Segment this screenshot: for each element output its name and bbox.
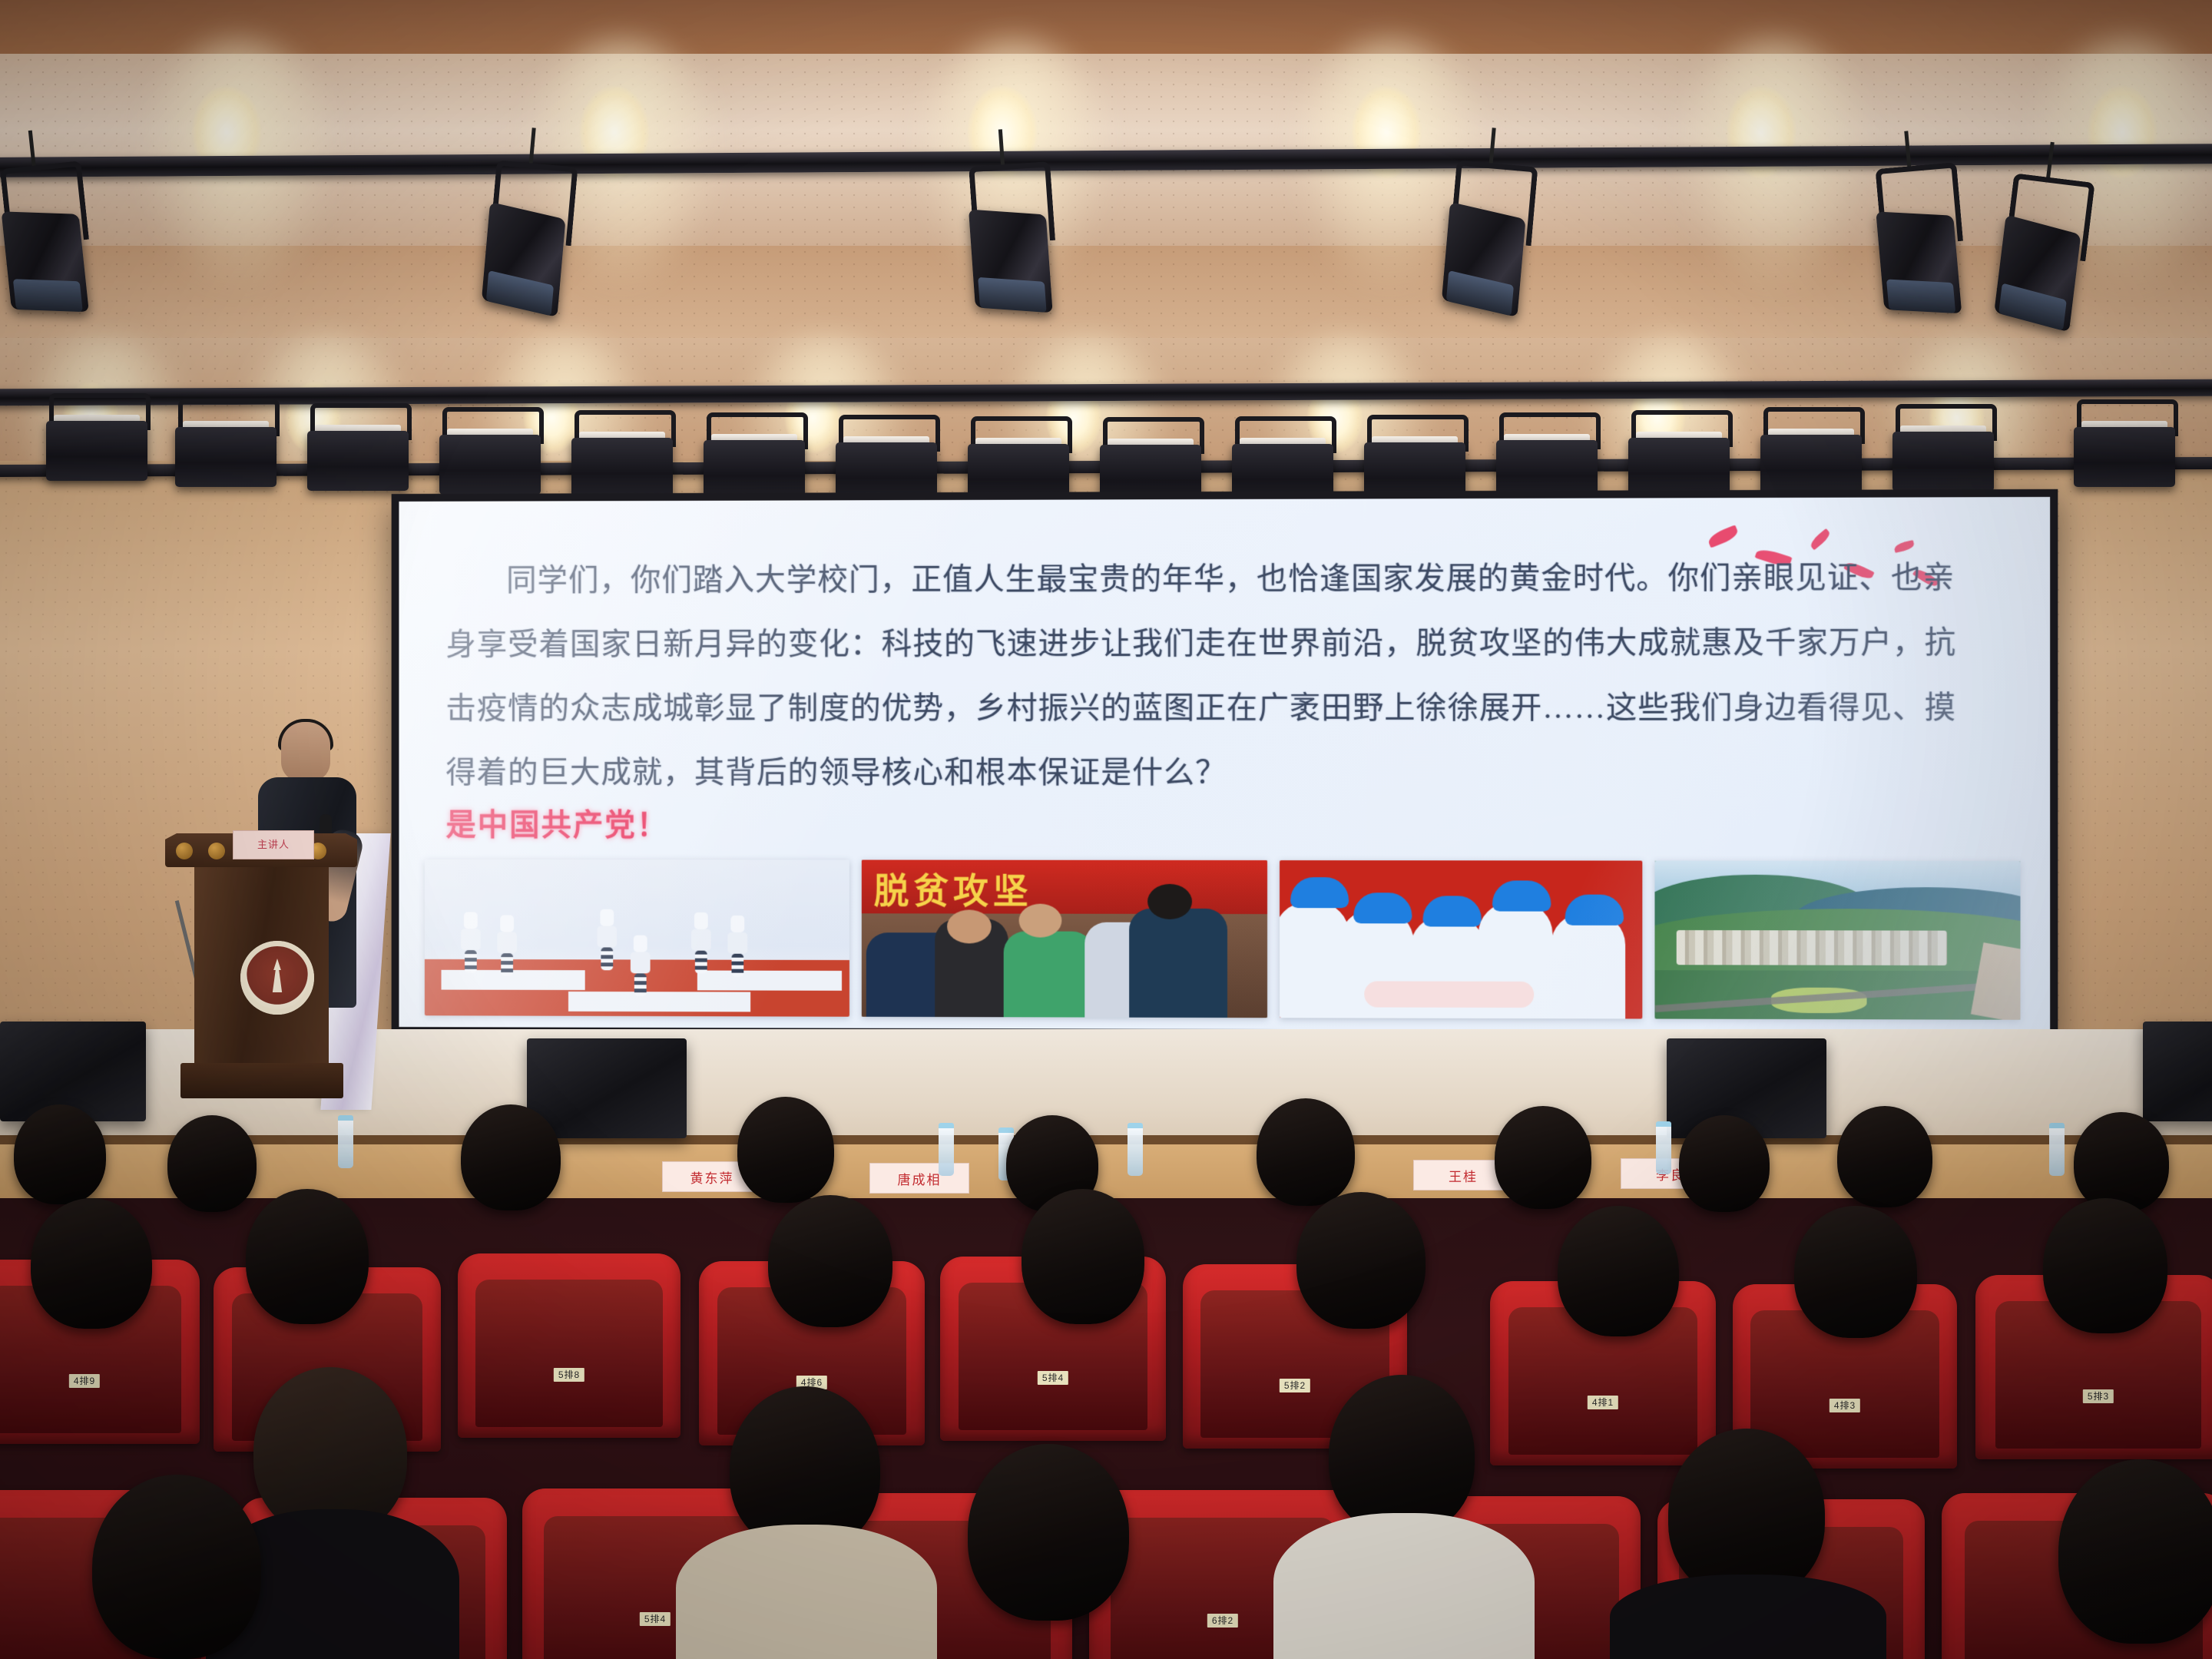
audience-head: [1679, 1115, 1770, 1212]
audience-head: [14, 1104, 106, 1204]
water-bottle-icon: [1656, 1121, 1671, 1174]
seat-label: 4排1: [1588, 1396, 1618, 1409]
presenter-head: [281, 722, 330, 782]
photo-space-robots: [425, 859, 849, 1017]
audience-head: [31, 1198, 152, 1329]
seat-label: 5排4: [640, 1612, 671, 1626]
audience-seat[interactable]: 5排8: [458, 1253, 680, 1438]
photo-medical-workers: [1280, 860, 1642, 1018]
audience-head: [2074, 1112, 2169, 1212]
stage-spotlight-icon: [1867, 163, 1965, 323]
audience-head: [1794, 1206, 1917, 1338]
slide-paragraph: 同学们，你们踏入大学校门，正值人生最宝贵的年华，也恰逢国家发展的黄金时代。你们亲…: [445, 545, 1981, 806]
seat-label: 4排9: [69, 1374, 100, 1388]
stage-floodlight-icon: [2074, 399, 2175, 490]
photo-poverty-alleviation: 脱贫攻坚: [862, 860, 1267, 1018]
photo-banner: 脱贫攻坚: [862, 860, 1267, 915]
seat-label: 5排4: [1038, 1371, 1068, 1385]
audience-shoulders: [1273, 1513, 1535, 1659]
stage-floodlight-icon: [571, 410, 673, 501]
audience-head: [737, 1097, 834, 1203]
audience-head: [1022, 1189, 1144, 1324]
university-emblem: [240, 941, 314, 1015]
audience-head: [1329, 1375, 1475, 1535]
stage-spotlight-icon: [0, 161, 92, 323]
water-bottle-icon: [2049, 1123, 2065, 1176]
auditorium-scene: 同学们，你们踏入大学校门，正值人生最宝贵的年华，也恰逢国家发展的黄金时代。你们亲…: [0, 0, 2212, 1659]
table-name-placard: 唐成相: [869, 1163, 969, 1194]
stage-spotlight-icon: [961, 161, 1056, 320]
lectern-name-card: 主讲人: [233, 830, 314, 859]
audience-head: [1495, 1106, 1591, 1209]
audience-head: [2058, 1459, 2212, 1644]
water-bottle-icon: [1128, 1123, 1143, 1176]
audience-head: [92, 1475, 261, 1659]
audience-head: [1296, 1192, 1426, 1329]
stage-floodlight-icon: [704, 412, 805, 503]
water-bottle-icon: [939, 1123, 954, 1176]
stage-floodlight-icon: [175, 399, 276, 490]
audience-head: [246, 1189, 369, 1324]
lectern-base: [180, 1063, 343, 1098]
lectern-podium: 主讲人: [165, 833, 357, 1098]
audience-head: [1668, 1429, 1825, 1599]
audience-head: [1257, 1098, 1355, 1206]
water-bottle-icon: [338, 1115, 353, 1168]
stage-monitor-speaker: [527, 1038, 687, 1138]
photo-rural-village: [1654, 861, 2020, 1020]
stage-floodlight-icon: [1628, 410, 1730, 501]
lectern-ornament: [208, 843, 225, 859]
seat-label: 4排3: [1830, 1399, 1860, 1412]
slide-photo-strip: 脱贫攻坚: [425, 859, 2030, 1020]
stage-monitor-speaker: [2143, 1022, 2212, 1121]
ceiling-upper-trim: [0, 0, 2212, 54]
audience-shoulders: [676, 1525, 937, 1659]
audience-shoulders: [1610, 1575, 1886, 1659]
stage-spotlight-icon: [1435, 160, 1533, 320]
audience-head: [167, 1115, 257, 1212]
audience-head: [1558, 1206, 1679, 1336]
seat-label: 5排3: [2083, 1389, 2114, 1403]
projection-screen[interactable]: 同学们，你们踏入大学校门，正值人生最宝贵的年华，也恰逢国家发展的黄金时代。你们亲…: [399, 497, 2050, 1031]
audience-head: [768, 1195, 892, 1327]
stage-floodlight-icon: [1496, 412, 1598, 503]
seat-label: 5排2: [1280, 1379, 1310, 1392]
audience-head: [1837, 1106, 1932, 1207]
slide-answer-line: 是中国共产党！: [445, 800, 668, 845]
seat-label: 5排8: [554, 1368, 584, 1382]
stage-spotlight-icon: [475, 160, 573, 320]
stage-floodlight-icon: [307, 403, 409, 494]
stage-floodlight-icon: [46, 393, 147, 484]
audience-head: [968, 1444, 1129, 1621]
stage-floodlight-icon: [1760, 407, 1862, 498]
stage-floodlight-icon: [1892, 404, 1994, 495]
audience-head: [461, 1104, 561, 1210]
stage-floodlight-icon: [439, 407, 541, 498]
seat-label: 6排2: [1207, 1614, 1238, 1628]
projection-screen-frame: 同学们，你们踏入大学校门，正值人生最宝贵的年华，也恰逢国家发展的黄金时代。你们亲…: [392, 489, 2058, 1039]
audience-head: [2043, 1198, 2167, 1333]
lectern-ornament: [176, 843, 193, 859]
